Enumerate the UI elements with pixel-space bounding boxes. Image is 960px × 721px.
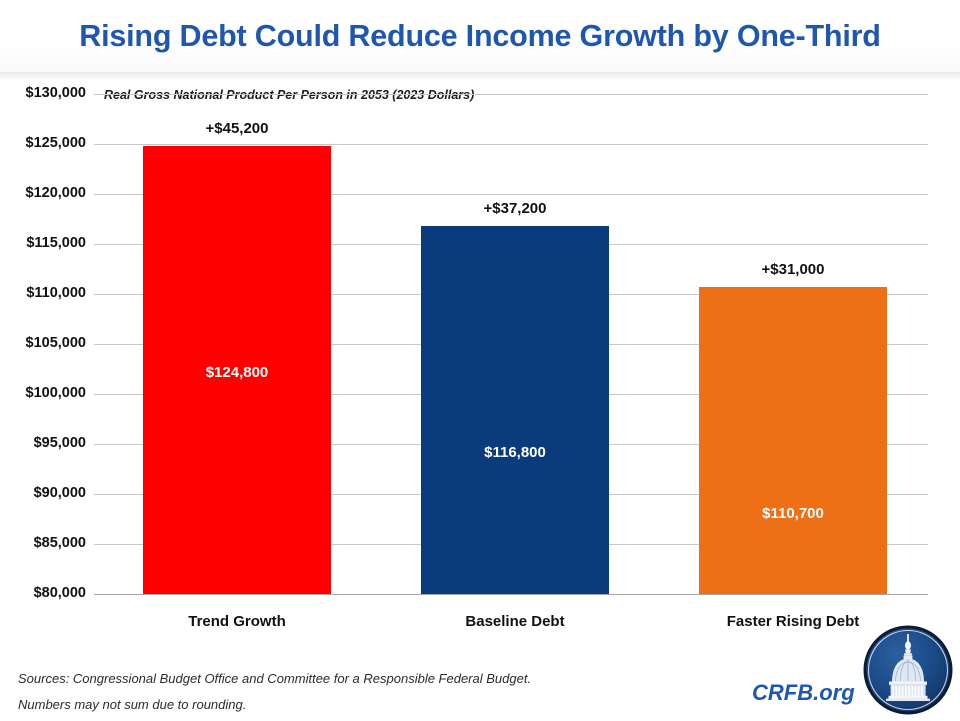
header-divider	[0, 72, 960, 80]
y-axis-tick-label: $115,000	[2, 235, 86, 251]
y-axis-tick-label: $120,000	[2, 185, 86, 201]
crfb-wordmark: CRFB.org	[752, 680, 855, 706]
x-axis-category-label: Trend Growth	[143, 613, 331, 630]
y-axis-tick-label: $130,000	[2, 85, 86, 101]
y-axis-tick-label: $85,000	[2, 535, 86, 551]
bar-value-label: $124,800	[143, 364, 331, 381]
page-title: Rising Debt Could Reduce Income Growth b…	[79, 19, 880, 54]
gridline	[94, 94, 928, 95]
bar-2[interactable]: $116,800	[421, 226, 609, 594]
y-axis-tick-label: $90,000	[2, 485, 86, 501]
bar-3[interactable]: $110,700	[699, 287, 887, 594]
y-axis-tick-label: $105,000	[2, 335, 86, 351]
y-axis-tick-label: $95,000	[2, 435, 86, 451]
source-note-line-2: Numbers may not sum due to rounding.	[18, 697, 246, 712]
bar-1[interactable]: $124,800	[143, 146, 331, 594]
y-axis-tick-label: $125,000	[2, 135, 86, 151]
chart-area: Real Gross National Product Per Person i…	[0, 80, 960, 640]
capitol-dome-icon	[862, 624, 954, 716]
bar-delta-label: +$31,000	[699, 261, 887, 278]
y-axis-tick-label: $100,000	[2, 385, 86, 401]
y-axis-tick-label: $110,000	[2, 285, 86, 301]
y-axis-tick-label: $80,000	[2, 585, 86, 601]
bar-delta-label: +$37,200	[421, 200, 609, 217]
chart-header: Rising Debt Could Reduce Income Growth b…	[0, 0, 960, 72]
bar-value-label: $116,800	[421, 444, 609, 461]
x-axis-category-label: Baseline Debt	[421, 613, 609, 630]
plot-region: $130,000$125,000$120,000$115,000$110,000…	[94, 94, 928, 594]
x-axis-category-label: Faster Rising Debt	[699, 613, 887, 630]
chart-footer: Sources: Congressional Budget Office and…	[0, 640, 960, 720]
bar-delta-label: +$45,200	[143, 120, 331, 137]
source-note-line-1: Sources: Congressional Budget Office and…	[18, 671, 531, 686]
bar-value-label: $110,700	[699, 505, 887, 522]
gridline	[94, 144, 928, 145]
